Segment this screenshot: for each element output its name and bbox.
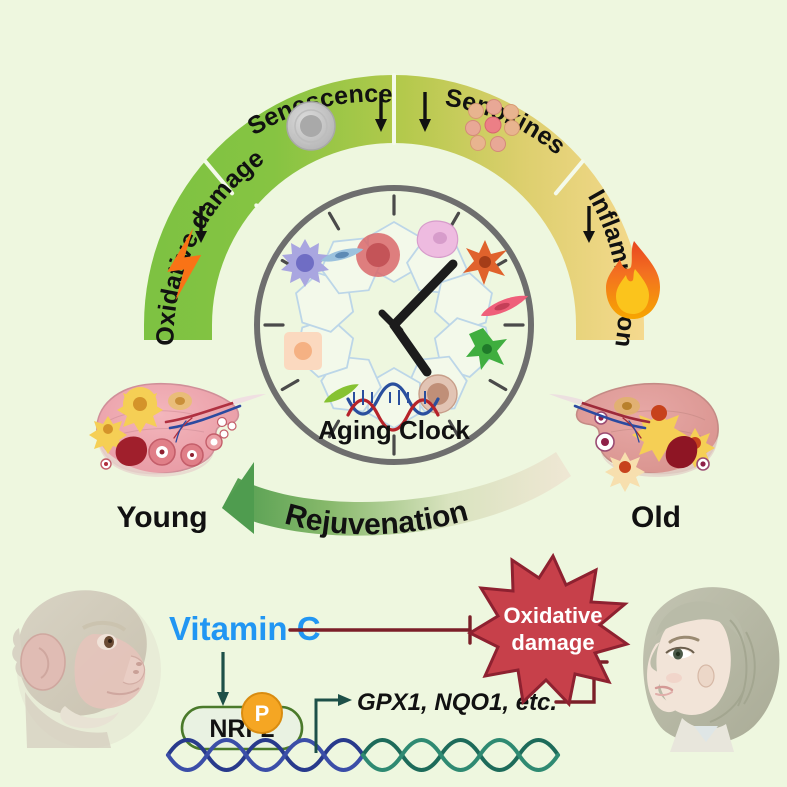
burst-label-line2: damage [511,630,594,655]
clock-title: Aging Clock [318,415,470,445]
phospho-label: P [255,701,270,726]
cell-pink-squamous [417,221,457,257]
figure-canvas: Oxidative damage Senescence Senokines In… [0,0,787,787]
aging-clock: Aging Clock [252,183,536,467]
senescent-cell-icon [287,102,335,150]
label-old: Old [631,501,681,534]
phosphorylation-badge: P [242,693,282,733]
label-young: Young [116,501,207,534]
cell-peach-square [284,332,322,370]
burst-label-line1: Oxidative [503,603,602,628]
figure-svg: Oxidative damage Senescence Senokines In… [0,0,787,787]
cell-red-nucleus [356,233,400,277]
monkey-head-icon [12,590,161,748]
